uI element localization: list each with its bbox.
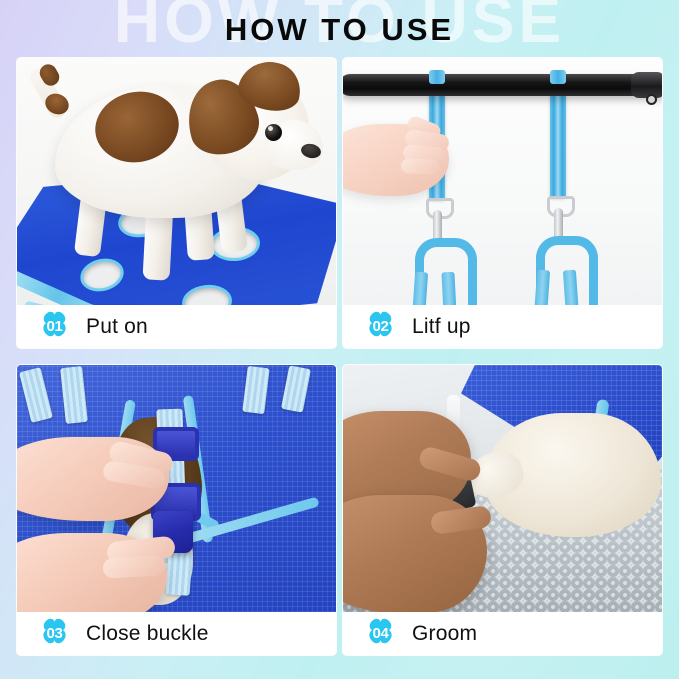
strap-wrap bbox=[550, 70, 566, 84]
step-number: 03 bbox=[37, 618, 72, 649]
steps-grid: 01 Put on bbox=[17, 58, 662, 655]
support-bar-cap bbox=[631, 72, 662, 98]
step-number: 02 bbox=[363, 311, 398, 342]
cloud-badge-icon: 02 bbox=[363, 311, 398, 342]
step-label: Litf up bbox=[412, 315, 471, 339]
step-label: Put on bbox=[86, 315, 148, 339]
cloud-badge-icon: 03 bbox=[37, 618, 72, 649]
dog-eye bbox=[265, 124, 282, 141]
step-2-photo bbox=[343, 58, 662, 305]
support-bar-screw bbox=[648, 96, 655, 103]
strap-wrap bbox=[429, 70, 445, 84]
step-3-photo bbox=[17, 365, 336, 612]
step-3-label-bar: 03 Close buckle bbox=[17, 612, 336, 655]
step-card-4[interactable]: 04 Groom bbox=[343, 365, 662, 655]
step-2-label-bar: 02 Litf up bbox=[343, 305, 662, 348]
step-card-3[interactable]: 03 Close buckle bbox=[17, 365, 336, 655]
page-header: HOW TO USE HOW TO USE bbox=[0, 0, 679, 58]
step-card-2[interactable]: 02 Litf up bbox=[343, 58, 662, 348]
step-1-label-bar: 01 Put on bbox=[17, 305, 336, 348]
step-number: 04 bbox=[363, 618, 398, 649]
step-4-photo bbox=[343, 365, 662, 612]
step-4-label-bar: 04 Groom bbox=[343, 612, 662, 655]
how-to-use-infographic: HOW TO USE HOW TO USE bbox=[0, 0, 679, 679]
webbing-strap bbox=[166, 552, 193, 596]
step-number: 01 bbox=[37, 311, 72, 342]
finger bbox=[401, 158, 440, 175]
step-label: Close buckle bbox=[86, 622, 209, 646]
cloud-badge-icon: 01 bbox=[37, 311, 72, 342]
support-bar bbox=[343, 74, 662, 96]
step-card-1[interactable]: 01 Put on bbox=[17, 58, 336, 348]
finger bbox=[103, 555, 166, 578]
step-1-photo bbox=[17, 58, 336, 305]
hanging-sling-strap bbox=[411, 272, 428, 305]
step-label: Groom bbox=[412, 622, 477, 646]
cloud-badge-icon: 04 bbox=[363, 618, 398, 649]
page-title: HOW TO USE bbox=[0, 12, 679, 48]
